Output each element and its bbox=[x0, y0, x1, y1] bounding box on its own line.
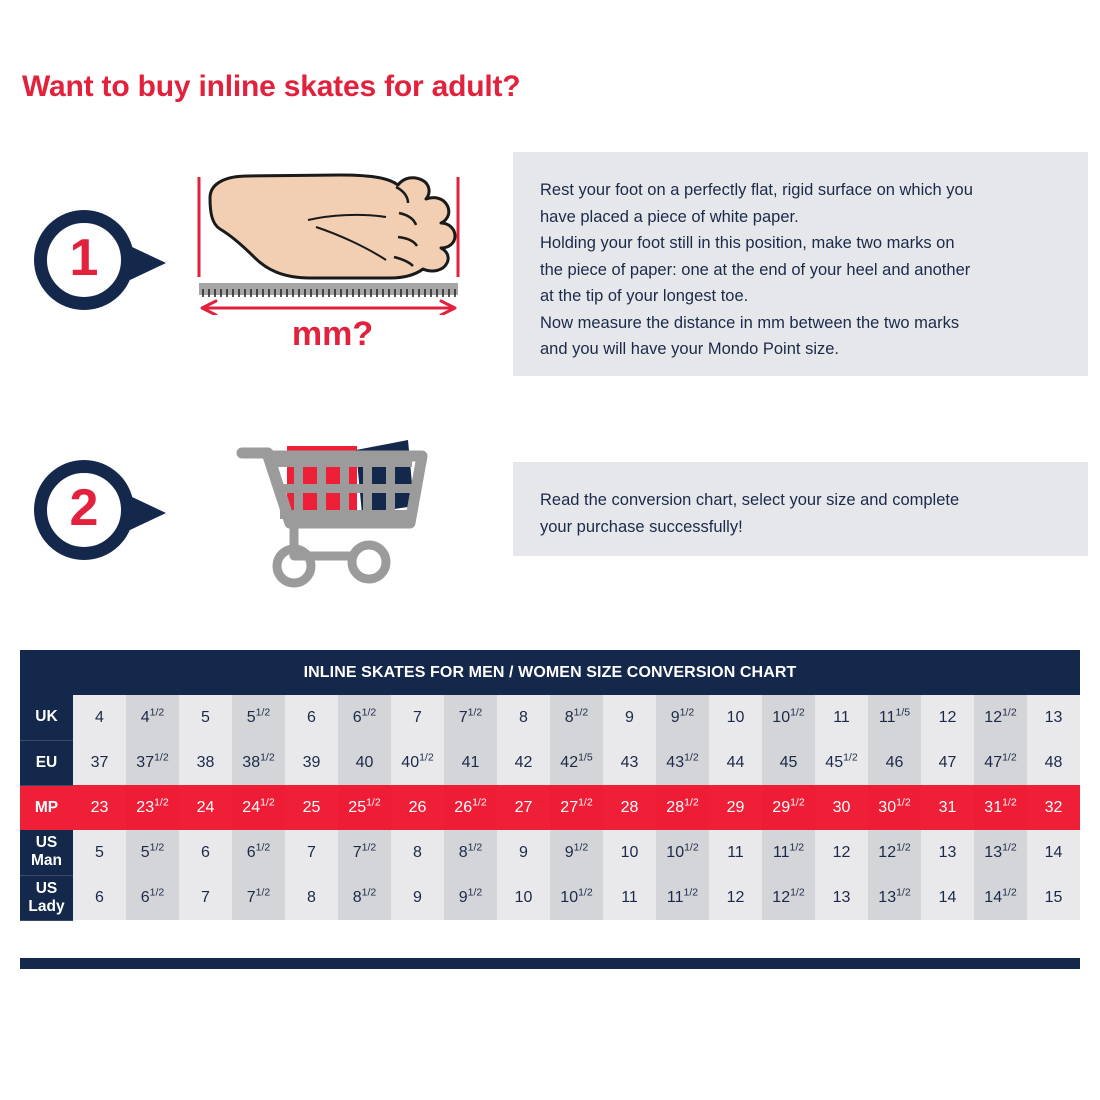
table-cell: 91/2 bbox=[550, 830, 603, 875]
table-cell: 10 bbox=[709, 695, 762, 740]
fraction-superscript: 1/2 bbox=[154, 796, 169, 808]
table-cell: 39 bbox=[285, 740, 338, 785]
fraction-superscript: 1/2 bbox=[468, 706, 483, 718]
table-cell: 81/2 bbox=[338, 875, 391, 920]
step-1-number: 1 bbox=[70, 232, 99, 284]
table-cell: 6 bbox=[285, 695, 338, 740]
mm-measure-label: mm? bbox=[190, 315, 475, 354]
fraction-superscript: 1/2 bbox=[1002, 706, 1017, 718]
fraction-superscript: 1/5 bbox=[896, 706, 911, 718]
table-cell: 101/2 bbox=[656, 830, 709, 875]
table-cell: 41/2 bbox=[126, 695, 179, 740]
fraction-superscript: 1/2 bbox=[362, 706, 377, 718]
step-1-line-1: Rest your foot on a perfectly flat, rigi… bbox=[540, 177, 1062, 204]
table-cell: 71/2 bbox=[338, 830, 391, 875]
table-cell: 121/2 bbox=[974, 695, 1027, 740]
table-cell: 44 bbox=[709, 740, 762, 785]
table-cell: 291/2 bbox=[762, 785, 815, 830]
table-cell: 51/2 bbox=[232, 695, 285, 740]
table-row: EU37371/238381/23940401/24142421/543431/… bbox=[20, 740, 1080, 785]
table-cell: 14 bbox=[1027, 830, 1080, 875]
table-cell: 38 bbox=[179, 740, 232, 785]
row-label-us-lady: US Lady bbox=[20, 875, 73, 920]
table-cell: 61/2 bbox=[126, 875, 179, 920]
step-1-text-panel: Rest your foot on a perfectly flat, rigi… bbox=[513, 152, 1088, 376]
table-cell: 7 bbox=[179, 875, 232, 920]
table-cell: 121/2 bbox=[868, 830, 921, 875]
table-cell: 9 bbox=[497, 830, 550, 875]
fraction-superscript: 1/2 bbox=[150, 706, 165, 718]
table-cell: 231/2 bbox=[126, 785, 179, 830]
fraction-superscript: 1/2 bbox=[260, 751, 275, 763]
table-cell: 43 bbox=[603, 740, 656, 785]
table-cell: 10 bbox=[603, 830, 656, 875]
fraction-superscript: 1/2 bbox=[790, 796, 805, 808]
table-cell: 371/2 bbox=[126, 740, 179, 785]
step-1-line-6: Now measure the distance in mm between t… bbox=[540, 310, 1062, 337]
fraction-superscript: 1/2 bbox=[154, 751, 169, 763]
table-cell: 111/2 bbox=[762, 830, 815, 875]
fraction-superscript: 1/2 bbox=[790, 886, 805, 898]
step-2-number: 2 bbox=[70, 482, 99, 534]
table-cell: 4 bbox=[73, 695, 126, 740]
table-cell: 11 bbox=[603, 875, 656, 920]
table-cell: 131/2 bbox=[974, 830, 1027, 875]
table-cell: 471/2 bbox=[974, 740, 1027, 785]
table-cell: 141/2 bbox=[974, 875, 1027, 920]
table-cell: 41 bbox=[444, 740, 497, 785]
step-1-line-2: have placed a piece of white paper. bbox=[540, 204, 1062, 231]
table-cell: 8 bbox=[391, 830, 444, 875]
table-cell: 81/2 bbox=[550, 695, 603, 740]
table-cell: 421/5 bbox=[550, 740, 603, 785]
table-cell: 46 bbox=[868, 740, 921, 785]
fraction-superscript: 1/5 bbox=[578, 751, 593, 763]
table-cell: 51/2 bbox=[126, 830, 179, 875]
step-1-line-7: and you will have your Mondo Point size. bbox=[540, 336, 1062, 363]
fraction-superscript: 1/2 bbox=[256, 706, 271, 718]
table-cell: 13 bbox=[921, 830, 974, 875]
fraction-superscript: 1/2 bbox=[1002, 886, 1017, 898]
step-1-badge: 1 bbox=[20, 210, 170, 330]
table-cell: 11 bbox=[709, 830, 762, 875]
fraction-superscript: 1/2 bbox=[468, 886, 483, 898]
table-cell: 42 bbox=[497, 740, 550, 785]
table-cell: 241/2 bbox=[232, 785, 285, 830]
table-cell: 71/2 bbox=[444, 695, 497, 740]
step-number-circle: 2 bbox=[34, 460, 134, 560]
fraction-superscript: 1/2 bbox=[684, 796, 699, 808]
table-row: US Man551/2661/2771/2881/2991/210101/211… bbox=[20, 830, 1080, 875]
fraction-superscript: 1/2 bbox=[684, 751, 699, 763]
table-row: UK441/2551/2661/2771/2881/2991/210101/21… bbox=[20, 695, 1080, 740]
table-cell: 6 bbox=[73, 875, 126, 920]
table-cell: 31 bbox=[921, 785, 974, 830]
fraction-superscript: 1/2 bbox=[574, 706, 589, 718]
table-cell: 261/2 bbox=[444, 785, 497, 830]
fraction-superscript: 1/2 bbox=[896, 796, 911, 808]
table-cell: 11 bbox=[815, 695, 868, 740]
fraction-superscript: 1/2 bbox=[260, 796, 275, 808]
row-label-eu: EU bbox=[20, 740, 73, 785]
table-cell: 8 bbox=[497, 695, 550, 740]
table-cell: 27 bbox=[497, 785, 550, 830]
table-cell: 101/2 bbox=[762, 695, 815, 740]
table-cell: 61/2 bbox=[232, 830, 285, 875]
row-label-mp: MP bbox=[20, 785, 73, 830]
fraction-superscript: 1/2 bbox=[896, 886, 911, 898]
fraction-superscript: 1/2 bbox=[574, 841, 589, 853]
table-cell: 251/2 bbox=[338, 785, 391, 830]
chart-title: INLINE SKATES FOR MEN / WOMEN SIZE CONVE… bbox=[20, 650, 1080, 695]
fraction-superscript: 1/2 bbox=[790, 841, 805, 853]
size-conversion-table: INLINE SKATES FOR MEN / WOMEN SIZE CONVE… bbox=[20, 650, 1080, 921]
table-cell: 9 bbox=[391, 875, 444, 920]
page-title: Want to buy inline skates for adult? bbox=[22, 70, 520, 104]
table-cell: 61/2 bbox=[338, 695, 391, 740]
table-cell: 48 bbox=[1027, 740, 1080, 785]
fraction-superscript: 1/2 bbox=[684, 841, 699, 853]
table-cell: 401/2 bbox=[391, 740, 444, 785]
table-cell: 6 bbox=[179, 830, 232, 875]
fraction-superscript: 1/2 bbox=[896, 841, 911, 853]
table-cell: 101/2 bbox=[550, 875, 603, 920]
fraction-superscript: 1/2 bbox=[843, 751, 858, 763]
fraction-superscript: 1/2 bbox=[419, 751, 434, 763]
fraction-superscript: 1/2 bbox=[790, 706, 805, 718]
table-cell: 12 bbox=[709, 875, 762, 920]
table-cell: 14 bbox=[921, 875, 974, 920]
step-1-line-3: Holding your foot still in this position… bbox=[540, 230, 1062, 257]
fraction-superscript: 1/2 bbox=[1002, 796, 1017, 808]
table-cell: 451/2 bbox=[815, 740, 868, 785]
fraction-superscript: 1/2 bbox=[366, 796, 381, 808]
table-cell: 23 bbox=[73, 785, 126, 830]
fraction-superscript: 1/2 bbox=[472, 796, 487, 808]
table-cell: 91/2 bbox=[656, 695, 709, 740]
fraction-superscript: 1/2 bbox=[362, 886, 377, 898]
table-cell: 25 bbox=[285, 785, 338, 830]
table-cell: 111/2 bbox=[656, 875, 709, 920]
table-cell: 81/2 bbox=[444, 830, 497, 875]
table-cell: 5 bbox=[179, 695, 232, 740]
table-cell: 32 bbox=[1027, 785, 1080, 830]
fraction-superscript: 1/2 bbox=[578, 886, 593, 898]
fraction-superscript: 1/2 bbox=[150, 841, 165, 853]
table-cell: 281/2 bbox=[656, 785, 709, 830]
fraction-superscript: 1/2 bbox=[150, 886, 165, 898]
table-cell: 30 bbox=[815, 785, 868, 830]
bottom-accent-bar bbox=[20, 958, 1080, 969]
fraction-superscript: 1/2 bbox=[362, 841, 377, 853]
table-cell: 301/2 bbox=[868, 785, 921, 830]
table-cell: 47 bbox=[921, 740, 974, 785]
fraction-superscript: 1/2 bbox=[1002, 841, 1017, 853]
table-title-row: INLINE SKATES FOR MEN / WOMEN SIZE CONVE… bbox=[20, 650, 1080, 695]
row-label-uk: UK bbox=[20, 695, 73, 740]
fraction-superscript: 1/2 bbox=[468, 841, 483, 853]
fraction-superscript: 1/2 bbox=[684, 886, 699, 898]
table-cell: 71/2 bbox=[232, 875, 285, 920]
table-cell: 37 bbox=[73, 740, 126, 785]
table-cell: 28 bbox=[603, 785, 656, 830]
table-cell: 26 bbox=[391, 785, 444, 830]
table-cell: 10 bbox=[497, 875, 550, 920]
table-cell: 271/2 bbox=[550, 785, 603, 830]
table-cell: 431/2 bbox=[656, 740, 709, 785]
table-cell: 9 bbox=[603, 695, 656, 740]
table-cell: 45 bbox=[762, 740, 815, 785]
table-cell: 40 bbox=[338, 740, 391, 785]
row-label-us-man: US Man bbox=[20, 830, 73, 875]
foot-measure-illustration: mm? bbox=[190, 165, 475, 360]
table-cell: 7 bbox=[391, 695, 444, 740]
table-cell: 91/2 bbox=[444, 875, 497, 920]
table-cell: 29 bbox=[709, 785, 762, 830]
table-cell: 12 bbox=[815, 830, 868, 875]
step-2-line-2: your purchase successfully! bbox=[540, 514, 1062, 541]
table-cell: 111/5 bbox=[868, 695, 921, 740]
step-2-badge: 2 bbox=[20, 460, 170, 580]
shopping-cart-illustration bbox=[232, 428, 457, 588]
table-cell: 311/2 bbox=[974, 785, 1027, 830]
step-number-circle: 1 bbox=[34, 210, 134, 310]
table-cell: 12 bbox=[921, 695, 974, 740]
table-cell: 7 bbox=[285, 830, 338, 875]
table-cell: 15 bbox=[1027, 875, 1080, 920]
fraction-superscript: 1/2 bbox=[256, 886, 271, 898]
fraction-superscript: 1/2 bbox=[578, 796, 593, 808]
step-2-text-panel: Read the conversion chart, select your s… bbox=[513, 462, 1088, 556]
table-cell: 121/2 bbox=[762, 875, 815, 920]
step-1-line-5: at the tip of your longest toe. bbox=[540, 283, 1062, 310]
table-cell: 381/2 bbox=[232, 740, 285, 785]
table-cell: 13 bbox=[815, 875, 868, 920]
table-cell: 8 bbox=[285, 875, 338, 920]
table-row: US Lady661/2771/2881/2991/210101/211111/… bbox=[20, 875, 1080, 920]
table-cell: 131/2 bbox=[868, 875, 921, 920]
step-2-line-1: Read the conversion chart, select your s… bbox=[540, 487, 1062, 514]
shopping-cart-icon bbox=[232, 428, 457, 588]
table-cell: 13 bbox=[1027, 695, 1080, 740]
badge-pointer-icon bbox=[130, 246, 166, 280]
fraction-superscript: 1/2 bbox=[256, 841, 271, 853]
table-cell: 24 bbox=[179, 785, 232, 830]
table-cell: 5 bbox=[73, 830, 126, 875]
step-1-line-4: the piece of paper: one at the end of yo… bbox=[540, 257, 1062, 284]
fraction-superscript: 1/2 bbox=[1002, 751, 1017, 763]
fraction-superscript: 1/2 bbox=[680, 706, 695, 718]
badge-pointer-icon bbox=[130, 496, 166, 530]
table-row: MP23231/224241/225251/226261/227271/2282… bbox=[20, 785, 1080, 830]
foot-diagram-svg bbox=[190, 165, 475, 315]
